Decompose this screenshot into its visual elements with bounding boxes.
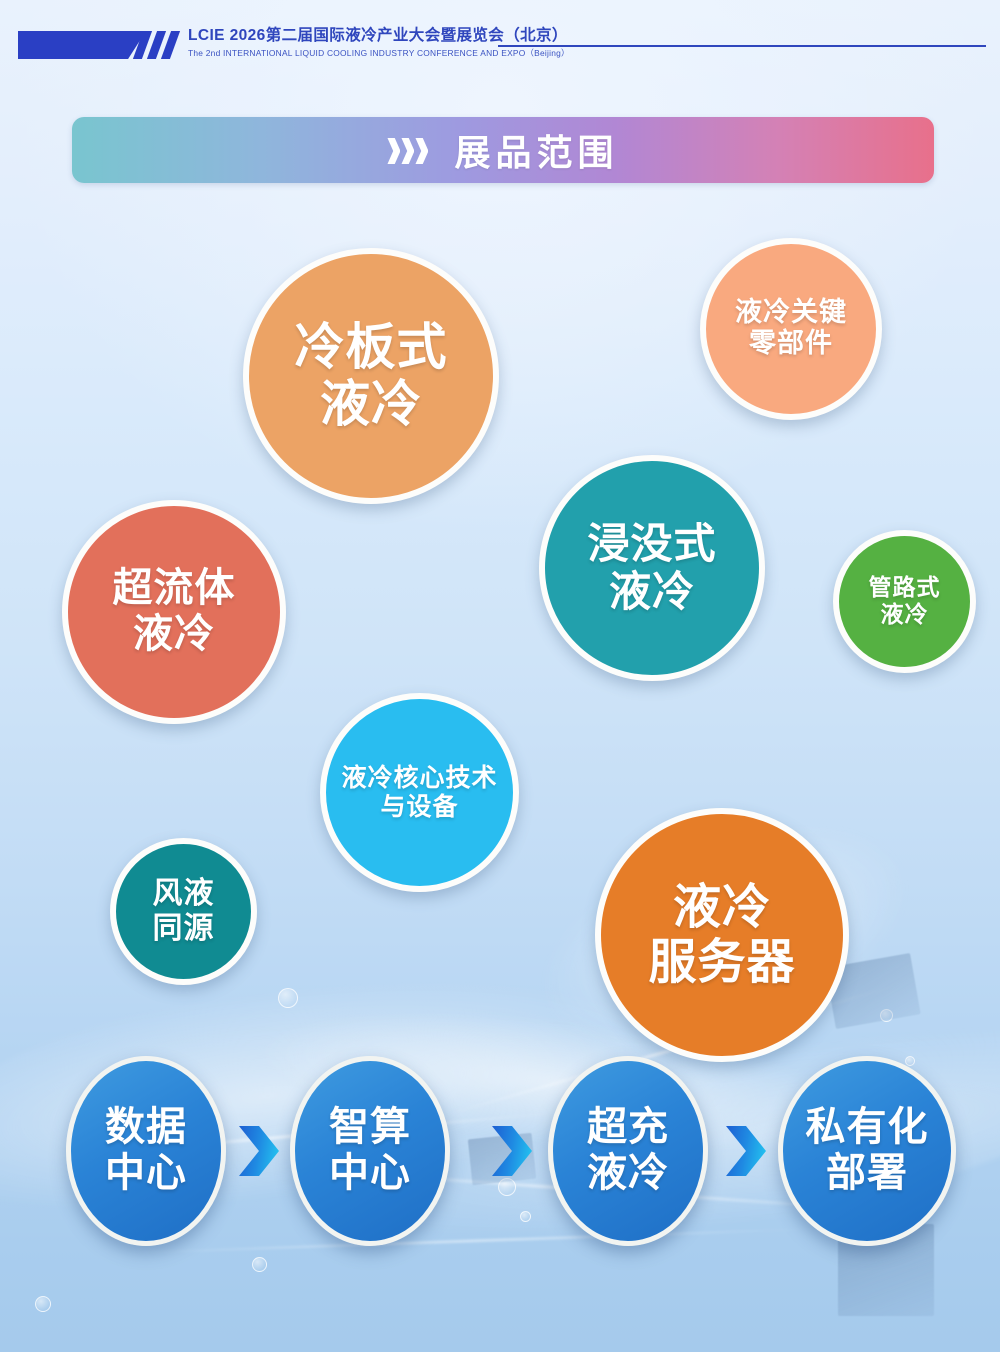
- page-header: LCIE 2026第二届国际液冷产业大会暨展览会（北京） The 2nd INT…: [0, 0, 1000, 88]
- bubble-superfluid[interactable]: 超流体液冷: [62, 500, 286, 724]
- flow-step-label: 超充液冷: [581, 1105, 675, 1196]
- bubble-pipeline[interactable]: 管路式液冷: [833, 530, 976, 673]
- water-bubble: [278, 988, 298, 1008]
- header-title-cn: LCIE 2026第二届国际液冷产业大会暨展览会（北京）: [188, 26, 570, 46]
- water-bubble: [905, 1056, 915, 1066]
- water-bubble: [520, 1211, 531, 1222]
- water-bubble: [35, 1296, 51, 1312]
- bubble-cold-plate[interactable]: 冷板式液冷: [243, 248, 499, 504]
- section-title: 展品范围: [454, 124, 618, 176]
- poster-canvas: LCIE 2026第二届国际液冷产业大会暨展览会（北京） The 2nd INT…: [0, 0, 1000, 1352]
- water-bubble: [880, 1009, 893, 1022]
- flow-step-label: 私有化部署: [800, 1105, 935, 1196]
- bubble-label: 超流体液冷: [107, 566, 242, 657]
- bubble-label: 风液同源: [147, 877, 221, 945]
- bubble-label: 液冷关键零部件: [729, 298, 853, 360]
- section-banner: 展品范围: [72, 117, 934, 183]
- bubble-label: 液冷核心技术与设备: [335, 764, 503, 821]
- water-streak: [120, 1228, 820, 1254]
- water-bubble: [498, 1178, 516, 1196]
- double-chevron-right-icon: [387, 138, 428, 164]
- server-silhouette: [468, 1133, 536, 1185]
- lcie-logo-icon: [18, 31, 146, 59]
- water-bubble: [252, 1257, 267, 1272]
- header-text-block: LCIE 2026第二届国际液冷产业大会暨展览会（北京） The 2nd INT…: [188, 26, 570, 59]
- chevron-right-arrow-icon: [726, 1126, 766, 1176]
- bubble-label: 管路式液冷: [863, 575, 947, 627]
- flow-step-data-center[interactable]: 数据中心: [66, 1056, 226, 1246]
- chevron-right-arrow-icon: [239, 1126, 279, 1176]
- bubble-label: 冷板式液冷: [289, 319, 454, 433]
- header-rule: [498, 45, 986, 47]
- bubble-key-components[interactable]: 液冷关键零部件: [700, 238, 882, 420]
- flow-step-label: 数据中心: [99, 1105, 193, 1196]
- bubble-label: 浸没式液冷: [581, 520, 722, 616]
- bubble-liquid-server[interactable]: 液冷服务器: [595, 808, 849, 1062]
- header-title-en: The 2nd INTERNATIONAL LIQUID COOLING IND…: [188, 47, 570, 59]
- flow-step-supercharge[interactable]: 超充液冷: [548, 1056, 708, 1246]
- chevron-right-arrow-icon: [492, 1126, 532, 1176]
- flow-step-private-deploy[interactable]: 私有化部署: [778, 1056, 956, 1246]
- bubble-core-tech[interactable]: 液冷核心技术与设备: [320, 693, 519, 892]
- bubble-label: 液冷服务器: [642, 880, 801, 989]
- bubble-air-liquid[interactable]: 风液同源: [110, 838, 257, 985]
- bubble-immersion[interactable]: 浸没式液冷: [539, 455, 765, 681]
- flow-step-ai-compute-center[interactable]: 智算中心: [290, 1056, 450, 1246]
- flow-step-label: 智算中心: [323, 1105, 417, 1196]
